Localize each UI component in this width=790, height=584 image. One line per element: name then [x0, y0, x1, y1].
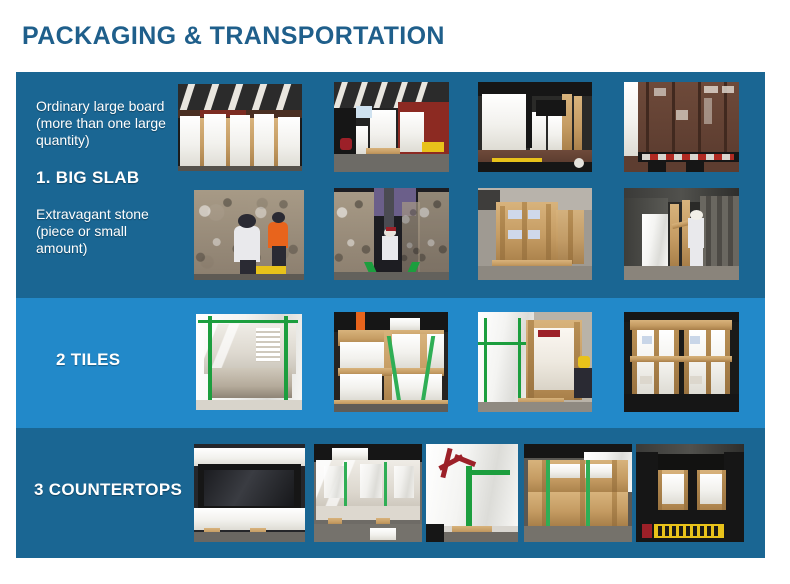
photo-worker-between-slabs: [334, 188, 449, 280]
photo-worker-loading-container: [624, 188, 739, 280]
photo-shrinkwrap-green-strap: [426, 444, 518, 542]
photo-warehouse-slab-loading: [334, 82, 449, 172]
content-panel: Ordinary large board (more than one larg…: [16, 72, 765, 558]
page-title: PACKAGING & TRANSPORTATION: [22, 22, 445, 51]
photo-wooden-crates-stone: [478, 188, 592, 280]
label-tiles: 2 TILES: [56, 350, 120, 370]
photo-crated-tiles-loading: [478, 312, 592, 412]
photo-workers-granite-slab: [194, 190, 304, 280]
photo-strapped-countertop-bundles: [314, 444, 422, 542]
photo-flatbed-slab-load: [478, 82, 592, 172]
label-ordinary-large-board: Ordinary large board (more than one larg…: [36, 98, 176, 149]
photo-container-tile-crates: [624, 312, 739, 412]
label-extravagant-stone: Extravagant stone (piece or small amount…: [36, 206, 176, 257]
photo-container-rear-truck: [624, 82, 739, 172]
photo-container-countertop-crates: [636, 444, 744, 542]
photo-black-countertop-aframe: [194, 444, 305, 542]
photo-wood-crates-countertops: [524, 444, 632, 542]
label-countertops: 3 COUNTERTOPS: [34, 480, 182, 500]
photo-slab-bundles-warehouse: [178, 84, 302, 171]
photo-tile-crates-pallets: [334, 312, 448, 412]
slide-canvas: PACKAGING & TRANSPORTATION Ordinary larg…: [0, 0, 790, 584]
photo-tile-pallet-green-straps: [194, 312, 304, 412]
label-big-slab: 1. BIG SLAB: [36, 168, 139, 188]
